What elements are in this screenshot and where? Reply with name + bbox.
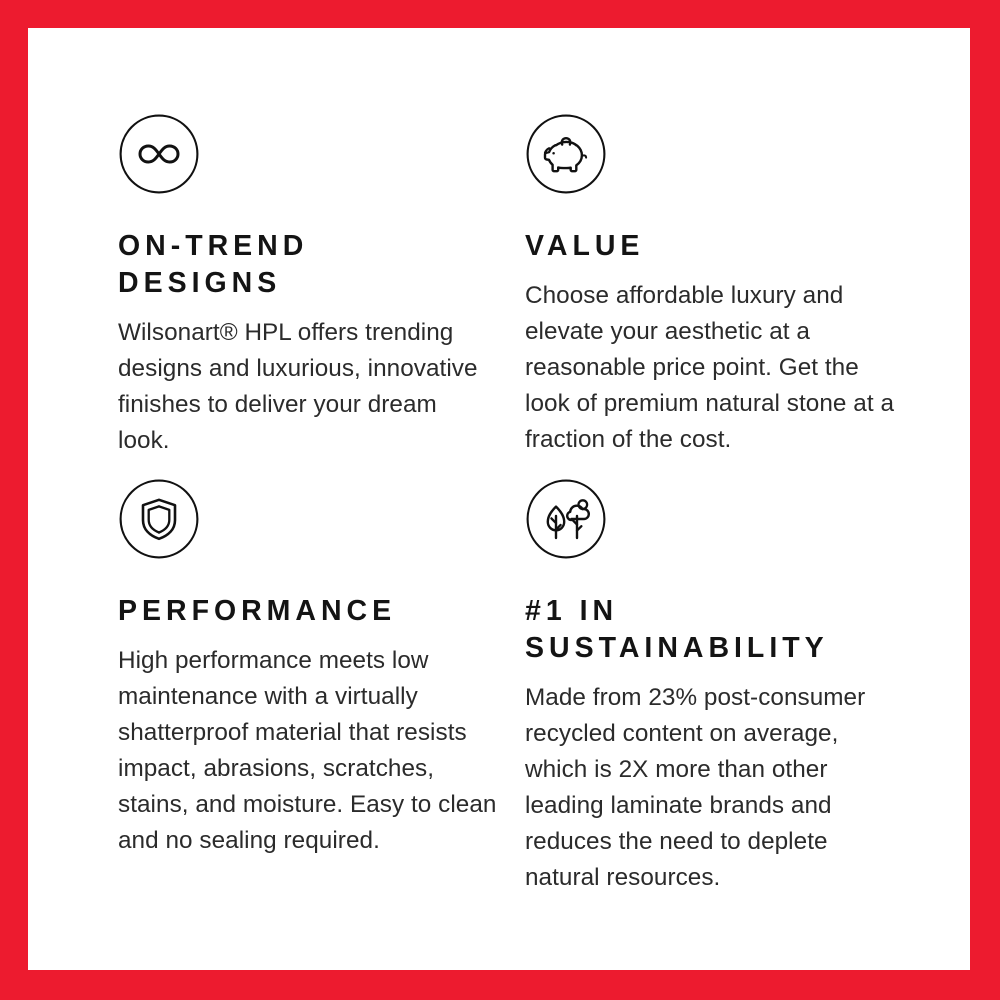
piggy-bank-icon bbox=[525, 113, 607, 195]
content-card: On-Trend Designs Wilsonart® HPL offers t… bbox=[28, 28, 970, 970]
infinity-icon bbox=[118, 113, 200, 195]
panel-body: Wilsonart® HPL offers trending designs a… bbox=[118, 315, 490, 459]
panel-heading: On-Trend Designs bbox=[118, 228, 503, 302]
panel-body: High performance meets low maintenance w… bbox=[118, 643, 500, 859]
feature-grid: On-Trend Designs Wilsonart® HPL offers t… bbox=[118, 113, 938, 897]
panel-heading: Value bbox=[525, 228, 910, 265]
feature-panel-on-trend-designs: On-Trend Designs Wilsonart® HPL offers t… bbox=[118, 113, 525, 478]
trees-sun-icon bbox=[525, 478, 607, 560]
panel-body: Made from 23% post-consumer recycled con… bbox=[525, 680, 907, 896]
shield-icon bbox=[118, 478, 200, 560]
feature-panel-value: Value Choose affordable luxury and eleva… bbox=[525, 113, 932, 478]
panel-heading: Performance bbox=[118, 593, 503, 630]
feature-panel-performance: Performance High performance meets low m… bbox=[118, 478, 525, 897]
panel-heading: #1 In Sustainability bbox=[525, 593, 910, 667]
red-border-frame: On-Trend Designs Wilsonart® HPL offers t… bbox=[0, 0, 1000, 1000]
feature-panel-sustainability: #1 In Sustainability Made from 23% post-… bbox=[525, 478, 932, 897]
panel-body: Choose affordable luxury and elevate you… bbox=[525, 278, 907, 458]
